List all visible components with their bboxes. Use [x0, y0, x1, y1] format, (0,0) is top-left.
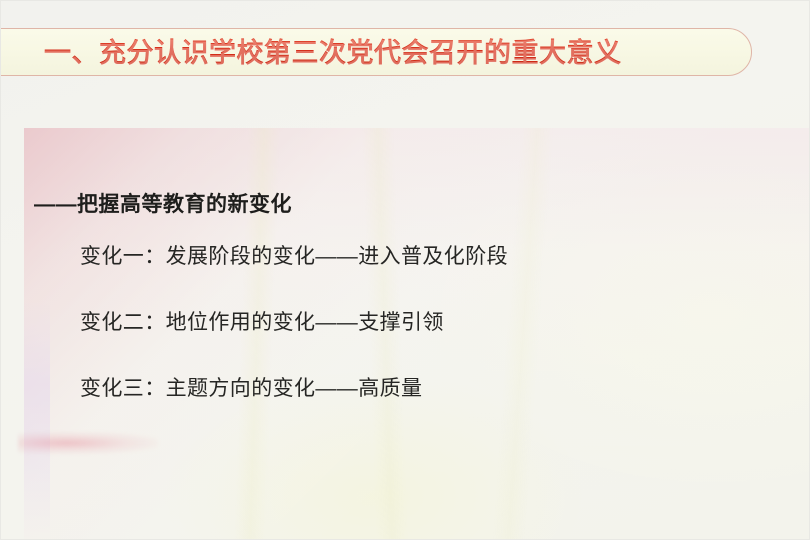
- presentation-slide: 一、充分认识学校第三次党代会召开的重大意义 ——把握高等教育的新变化 变化一：发…: [0, 0, 810, 540]
- section-subheading: ——把握高等教育的新变化: [34, 188, 292, 218]
- list-item: 变化二：地位作用的变化——支撑引领: [80, 306, 780, 336]
- page-title: 一、充分认识学校第三次党代会召开的重大意义: [44, 33, 622, 73]
- list-item: 变化三：主题方向的变化——高质量: [80, 372, 780, 402]
- bullet-list: 变化一：发展阶段的变化——进入普及化阶段 变化二：地位作用的变化——支撑引领 变…: [80, 240, 780, 402]
- list-item: 变化一：发展阶段的变化——进入普及化阶段: [80, 240, 780, 270]
